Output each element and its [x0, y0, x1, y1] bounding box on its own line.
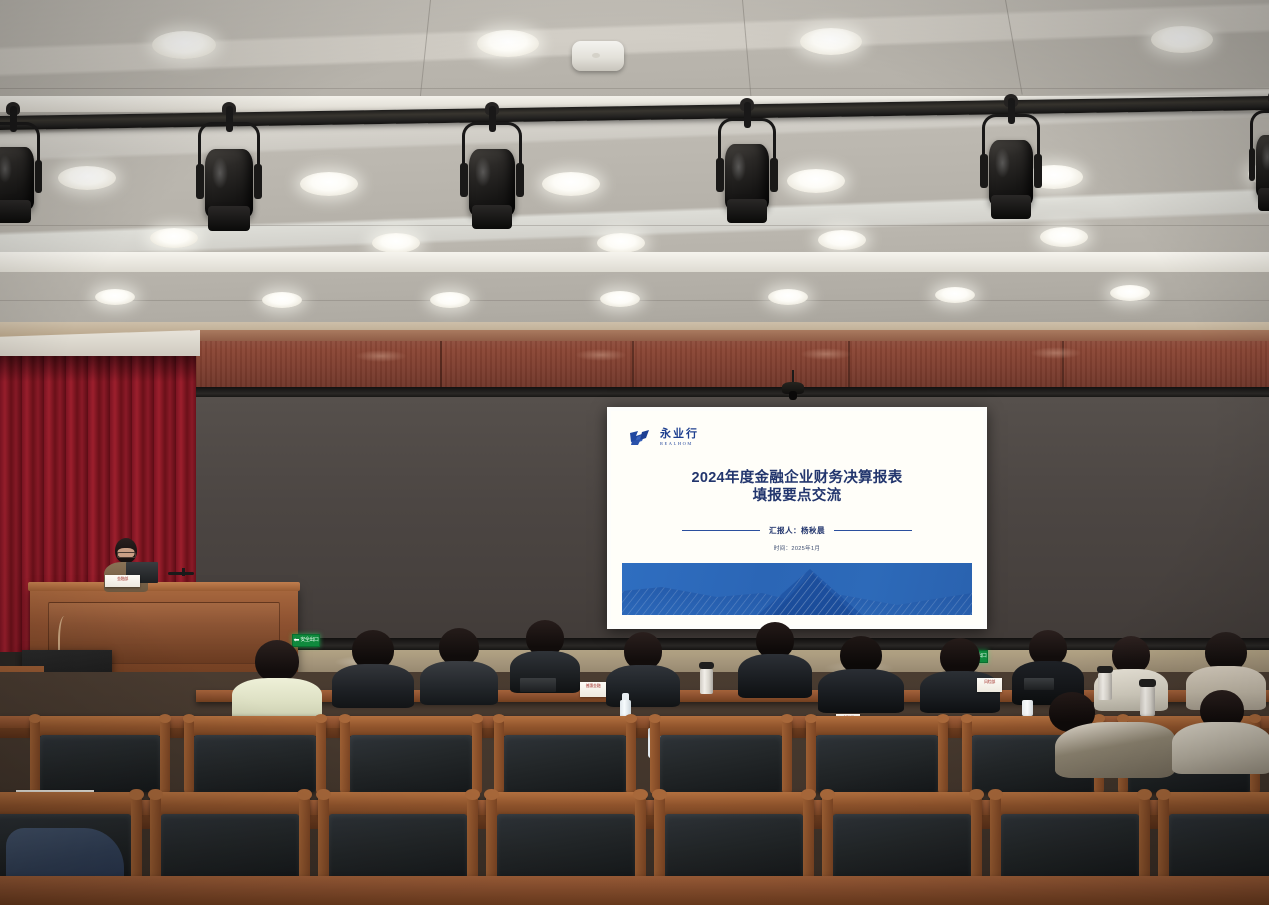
stage-spotlight [718, 118, 776, 218]
chair[interactable] [822, 792, 982, 884]
audience-person [920, 638, 1000, 708]
rule-left [682, 530, 760, 532]
podium-top [28, 582, 300, 591]
presentation-slide: 永业行 REALHOM 2024年度金融企业财务决算报表 填报要点交流 汇报人：… [611, 411, 983, 625]
nameplate-text: 风险部 [977, 680, 1002, 684]
downlight [1040, 227, 1088, 247]
chair[interactable] [30, 716, 170, 794]
logo-english-text: REALHOM [660, 442, 699, 446]
audience-person [606, 632, 680, 702]
stage-spotlight [982, 114, 1040, 214]
stage-spotlight [1250, 110, 1269, 206]
desk-nameplate: 风险部 [977, 678, 1002, 692]
rule-right [834, 530, 912, 532]
podium-nameplate: 金融部 [105, 575, 140, 587]
downlight [1151, 26, 1213, 53]
downlight [477, 30, 539, 57]
audience-person [738, 622, 812, 694]
slide-date: 时间：2025年1月 [611, 544, 983, 552]
stage-spotlight [462, 122, 522, 224]
audience-person [420, 628, 498, 700]
slide-title-line-1: 2024年度金融企业财务决算报表 [611, 469, 983, 487]
downlight [372, 233, 420, 253]
chair[interactable] [150, 792, 310, 884]
audience-person [1050, 692, 1170, 776]
downlight [600, 291, 640, 307]
downlight [152, 31, 216, 59]
paper-cup [1022, 700, 1033, 716]
stage-spotlight [198, 122, 260, 226]
podium-microphone [168, 572, 194, 575]
downlight [300, 172, 358, 196]
downlight [150, 228, 198, 248]
downlight [542, 172, 600, 196]
audience-person [1172, 690, 1269, 770]
smoke-detector-icon [572, 41, 624, 71]
audience-laptop [520, 678, 556, 692]
chair[interactable] [1158, 792, 1269, 884]
presenter-row: 汇报人：杨秋晨 [611, 525, 983, 536]
audience-person [232, 640, 322, 714]
conference-hall-photo: 永业行 REALHOM 2024年度金融企业财务决算报表 填报要点交流 汇报人：… [0, 0, 1269, 905]
audience-laptop [1024, 678, 1054, 690]
logo-chinese-text: 永业行 [660, 429, 699, 440]
slide-footer-graphic [622, 563, 972, 615]
chair[interactable] [654, 792, 814, 884]
thermos-flask [700, 668, 713, 694]
nameplate-text: 普惠金融 [580, 684, 606, 688]
audience-person [818, 636, 904, 708]
chair[interactable] [494, 716, 636, 794]
desk-foreground [0, 876, 1269, 905]
chair[interactable] [486, 792, 646, 884]
downlight [262, 292, 302, 308]
projection-screen: 永业行 REALHOM 2024年度金融企业财务决算报表 填报要点交流 汇报人：… [607, 407, 987, 629]
company-logo: 永业行 REALHOM [629, 429, 699, 446]
chair[interactable] [806, 716, 948, 794]
desk-nameplate: 普惠金融 [580, 682, 606, 697]
downlight [768, 289, 808, 305]
chair[interactable] [184, 716, 326, 794]
slide-title-line-2: 填报要点交流 [611, 487, 983, 505]
chair[interactable] [318, 792, 478, 884]
downlight [800, 28, 862, 55]
wood-wall-panel [190, 341, 1269, 389]
downlight [787, 169, 845, 193]
audience-person [332, 630, 414, 702]
downlight [597, 233, 645, 253]
realhom-logo-icon [629, 430, 655, 446]
chair[interactable] [990, 792, 1150, 884]
ceiling [0, 0, 1269, 342]
presenter-name: 汇报人：杨秋晨 [769, 525, 825, 536]
nameplate-text: 金融部 [105, 577, 140, 581]
stage-spotlight [0, 122, 40, 218]
downlight [430, 292, 470, 308]
chair[interactable] [650, 716, 792, 794]
downlight [1110, 285, 1150, 301]
chair[interactable] [340, 716, 482, 794]
downlight [58, 166, 116, 190]
downlight [935, 287, 975, 303]
downlight [95, 289, 135, 305]
downlight [818, 230, 866, 250]
ceiling-projector [782, 370, 804, 404]
